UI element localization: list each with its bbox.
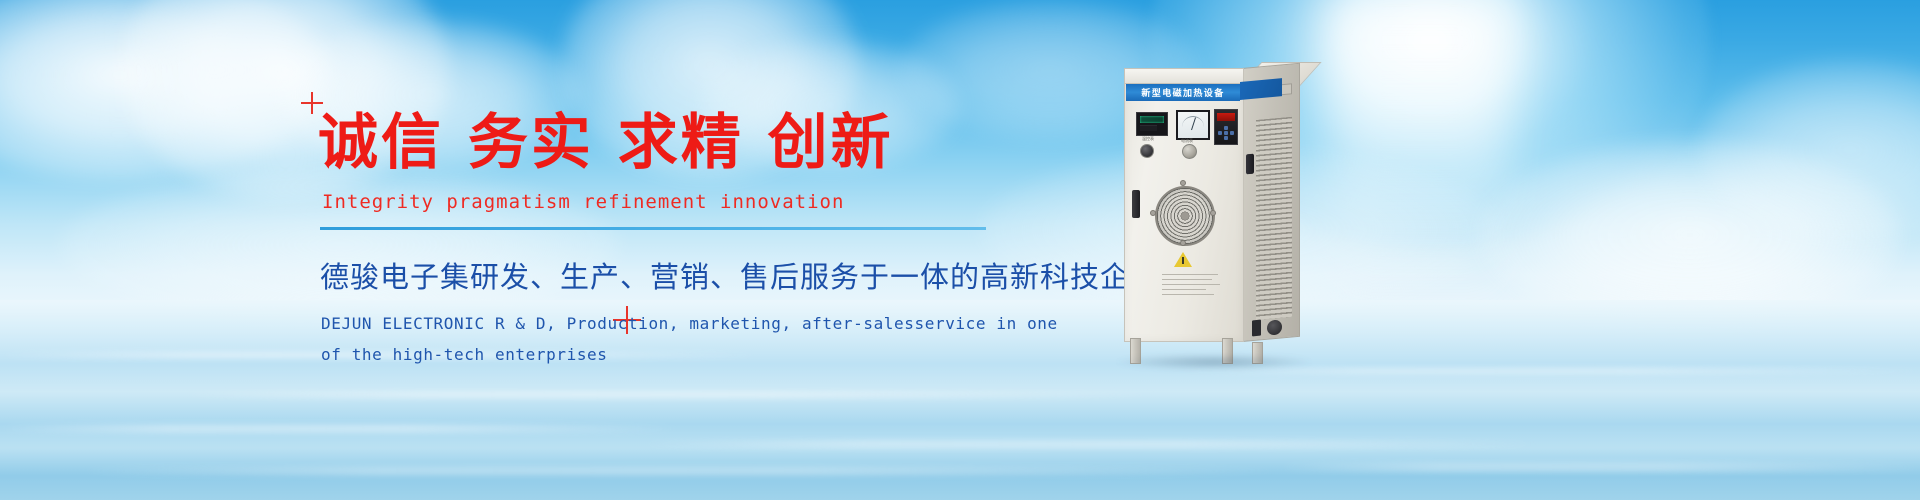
digital-subreadout xyxy=(1140,125,1157,131)
cabinet-top-panel xyxy=(1124,68,1244,84)
front-handle xyxy=(1132,190,1140,218)
control-knob xyxy=(1182,144,1197,159)
keypad-key xyxy=(1224,126,1228,130)
led-readout xyxy=(1217,113,1235,121)
water-streak xyxy=(0,424,680,433)
water-streak xyxy=(180,392,1160,398)
product-nameplate: 新型电磁加热设备 xyxy=(1126,84,1240,101)
nameplate-side xyxy=(1240,78,1282,100)
keypad-key xyxy=(1224,131,1228,135)
hero-banner: 诚信 务实 求精 创新 Integrity pragmatism refinem… xyxy=(0,0,1920,500)
product-nameplate-text: 新型电磁加热设备 xyxy=(1141,86,1224,99)
cloud xyxy=(1700,60,1920,240)
spec-label-lines xyxy=(1162,274,1222,299)
fan-bolt xyxy=(1210,210,1216,216)
digital-readout xyxy=(1140,116,1164,123)
fan-grill-icon xyxy=(1155,186,1215,246)
water-streak xyxy=(1280,462,1920,472)
panel-label-left: 温控表 xyxy=(1142,136,1154,142)
side-vent-grill-icon xyxy=(1256,117,1292,320)
keypad-key xyxy=(1218,131,1222,135)
warning-triangle-icon xyxy=(1174,252,1192,267)
divider-rule xyxy=(320,227,986,230)
digital-display-icon xyxy=(1136,112,1168,136)
headline-english: Integrity pragmatism refinement innovati… xyxy=(322,191,1018,213)
subhead-chinese: 德骏电子集研发、生产、营销、售后服务于一体的高新科技企业 xyxy=(320,254,1018,296)
side-handle xyxy=(1246,154,1254,175)
side-port xyxy=(1252,320,1261,337)
product-image-heating-cabinet: 新型电磁加热设备 温控表 电流表 xyxy=(1124,62,1339,362)
keypad-keys xyxy=(1218,126,1234,141)
analog-gauge-icon xyxy=(1176,110,1210,140)
fan-bolt xyxy=(1150,210,1156,216)
keypad-icon xyxy=(1214,109,1238,145)
water-streak xyxy=(80,466,1280,476)
cabinet-shadow xyxy=(1116,354,1312,370)
headline-chinese: 诚信 务实 求精 创新 xyxy=(318,112,1018,175)
control-knob xyxy=(1140,144,1154,158)
water-streak xyxy=(640,440,1540,448)
fan-bolt xyxy=(1180,180,1186,186)
subhead-english-line-1: DEJUN ELECTRONIC R & D, Production, mark… xyxy=(321,308,1018,339)
sun-beam xyxy=(1330,0,1510,330)
slogan-block: 诚信 务实 求精 创新 Integrity pragmatism refinem… xyxy=(318,112,1018,370)
keypad-key xyxy=(1224,136,1228,140)
subhead-english-line-2: of the high-tech enterprises xyxy=(321,339,1018,370)
panel-label-right: 电流表 xyxy=(1181,138,1193,144)
cloud xyxy=(0,0,330,180)
cloud xyxy=(1480,140,1900,330)
keypad-key xyxy=(1230,131,1234,135)
fan-bolt xyxy=(1180,240,1186,246)
